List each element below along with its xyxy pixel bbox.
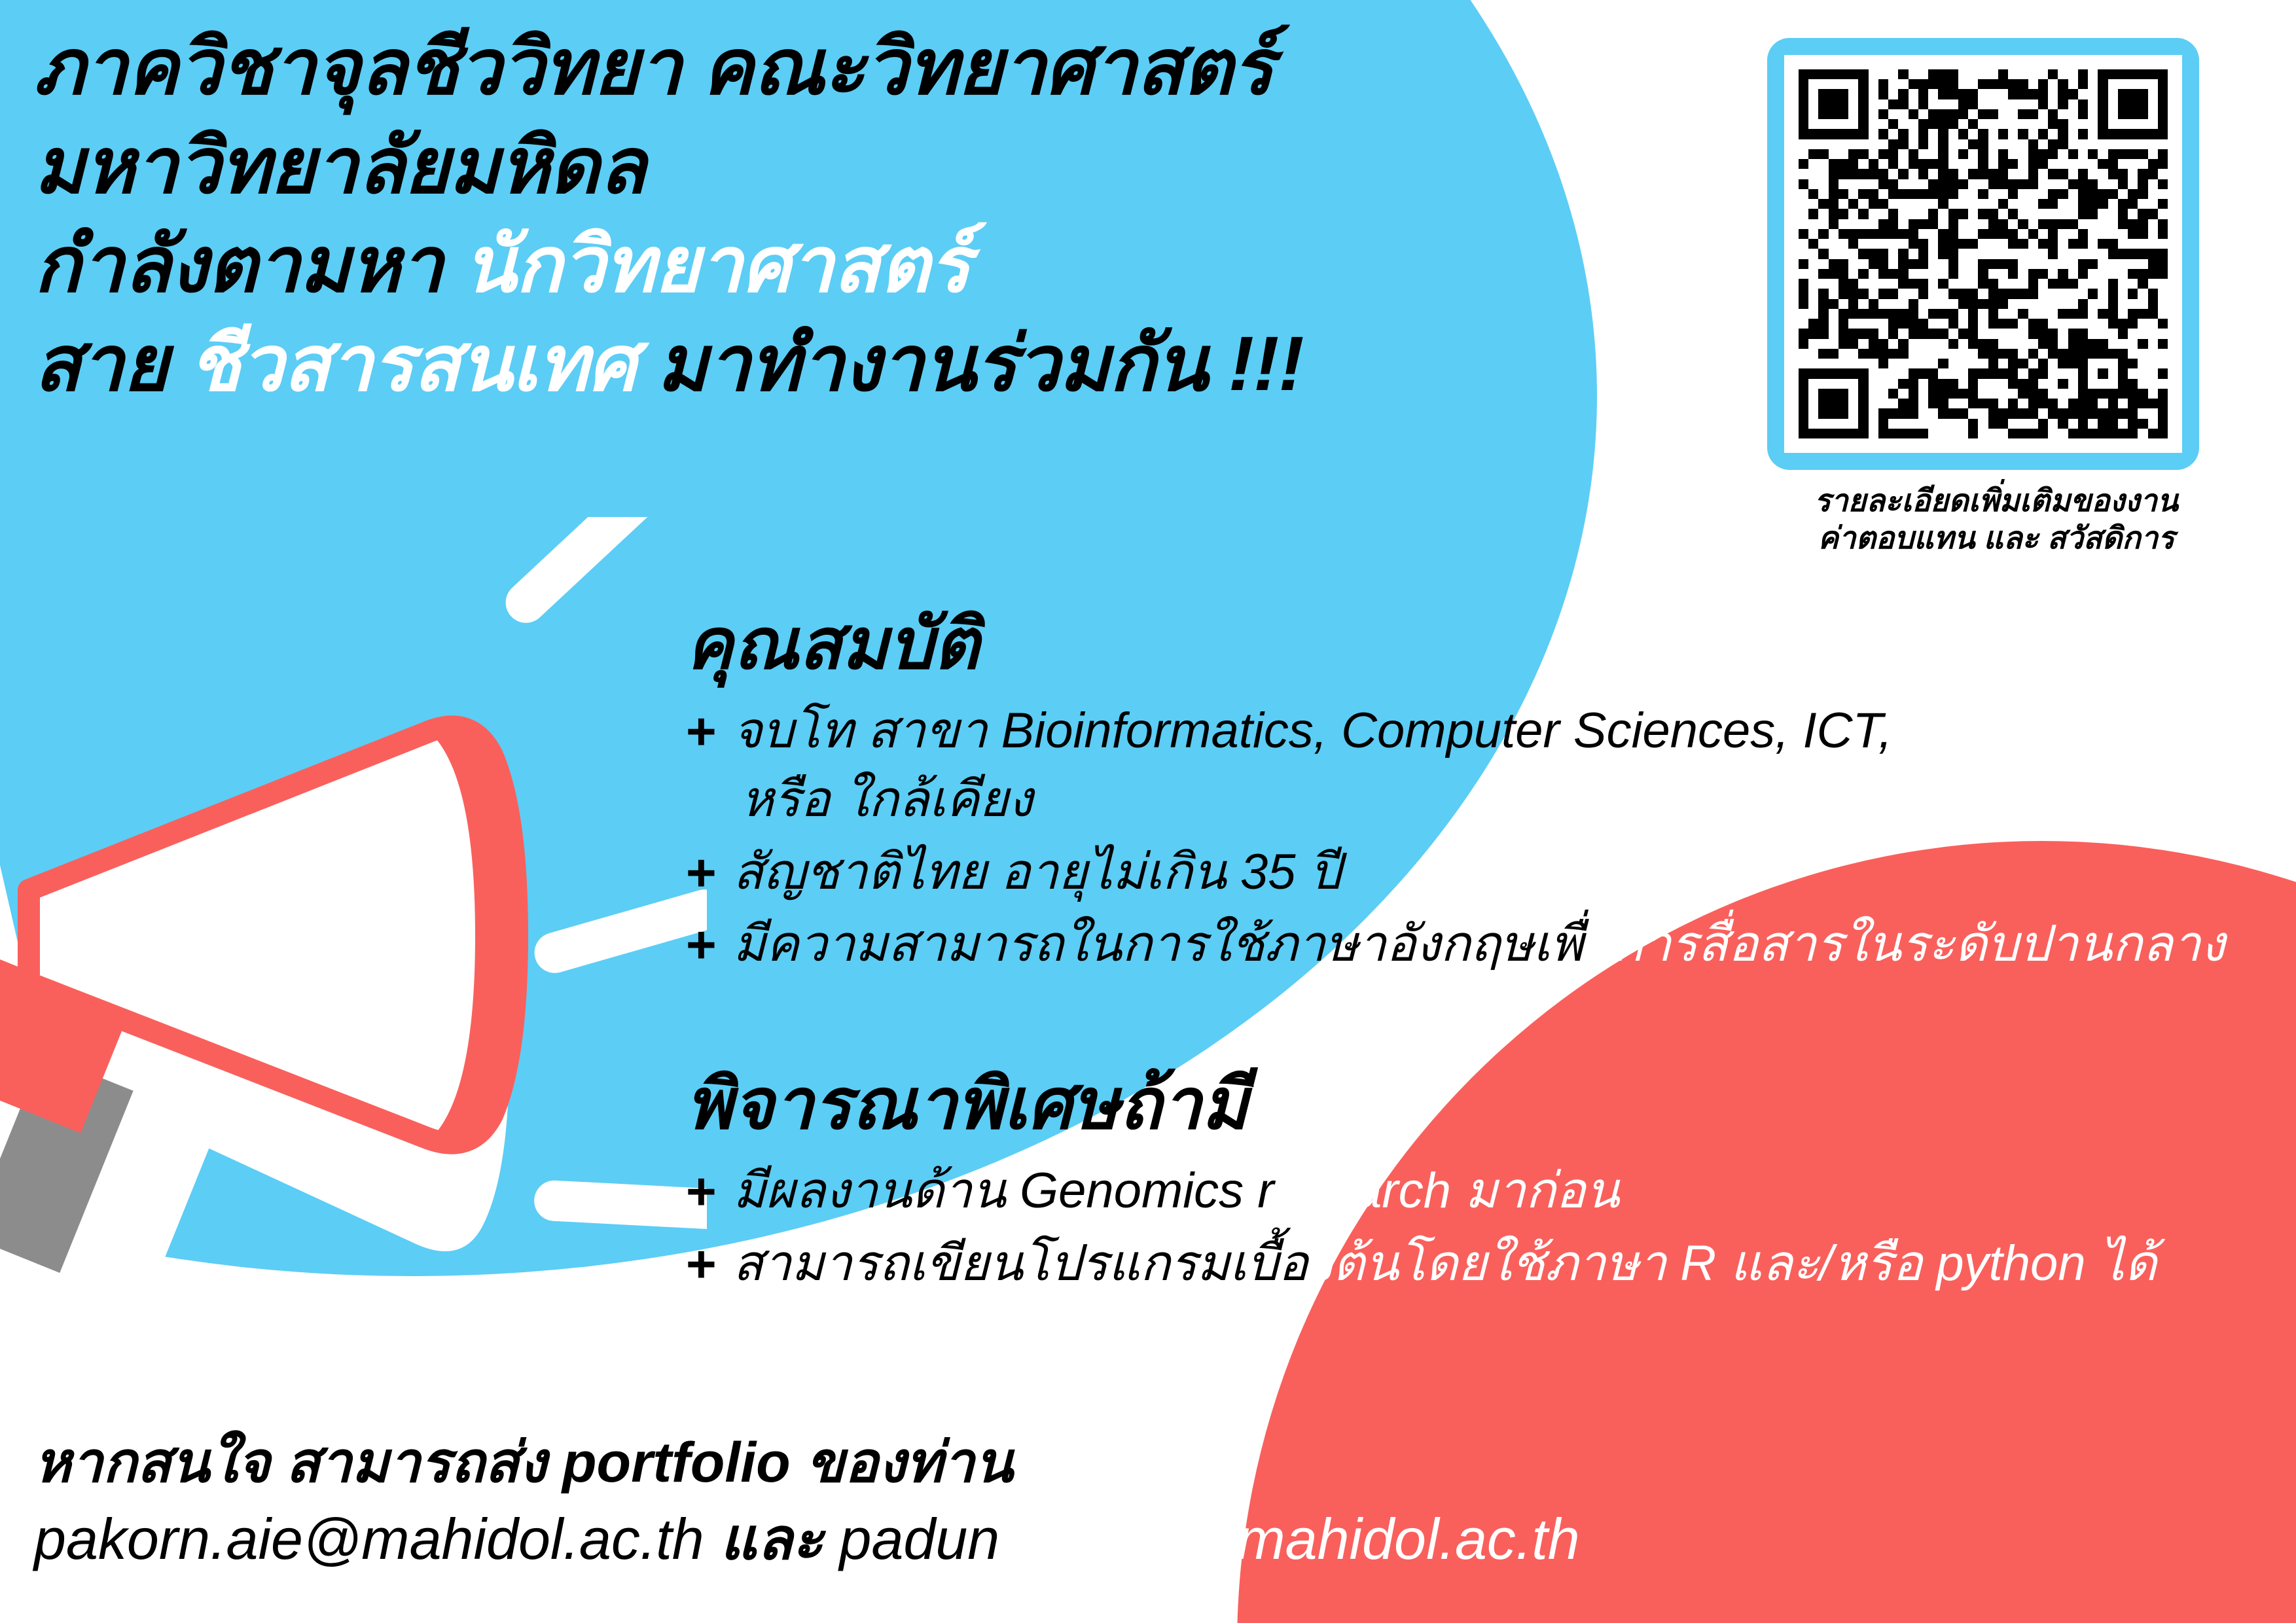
qr-caption: รายละเอียดเพิ่มเติมของงาน ค่าตอบแทน และ …: [1767, 482, 2225, 557]
footer-email-2-dark[interactable]: padun: [840, 1507, 1000, 1571]
qr-code-quiet-zone: [1784, 55, 2182, 453]
preferred-list: + มีผลงานด้าน Genomics research มาก่อน +…: [686, 1159, 2296, 1296]
megaphone-ray-1-icon: [497, 517, 664, 632]
qualifications-item-3-text-dark: มีความสามารถในการใช้ภาษาอังกฤษเพื่: [733, 916, 1583, 972]
qualifications-item-1-text: จบโท สาขา Bioinformatics, Computer Scien…: [733, 703, 1892, 758]
footer-cta-light: มาได้ที่:: [1029, 1431, 1218, 1494]
qualifications-item-2: + สัญชาติไทย อายุไม่เกิน 35 ปี: [686, 840, 2296, 905]
section-spacer: [686, 985, 2296, 1069]
preferred-heading: พิจารณาพิเศษถ้ามี: [686, 1069, 2296, 1139]
footer-cta: หากสนใจ สามารถส่ง portfolio ของท่าน มาได…: [34, 1430, 2259, 1496]
qualifications-item-1-continuation: หรือ ใกล้เคียง: [686, 768, 2296, 832]
qualifications-item-3: + มีความสามารถในการใช้ภาษาอังกฤษเพื่อการ…: [686, 912, 2296, 977]
footer-emails: pakorn.aie@mahidol.ac.th และ padungsri.v…: [34, 1505, 2259, 1573]
headline-line-3: กำลังตามหา นักวิทยาศาสตร์: [34, 216, 1749, 315]
qr-block: รายละเอียดเพิ่มเติมของงาน ค่าตอบแทน และ …: [1767, 38, 2225, 557]
bullet-plus-icon: +: [686, 911, 717, 979]
preferred-item-1: + มีผลงานด้าน Genomics research มาก่อน: [686, 1159, 2296, 1224]
preferred-item-2: + สามารถเขียนโปรแกรมเบื้องต้นโดยใช้ภาษา …: [686, 1232, 2296, 1296]
headline-line-3-dark: กำลังตามหา: [34, 222, 463, 308]
preferred-item-2-text-light: งต้นโดยใช้ภาษา R และ/หรือ python ได้: [1308, 1236, 2157, 1291]
qualifications-item-1-continuation-text: หรือ ใกล้เคียง: [741, 772, 1033, 827]
poster-canvas: ภาควิชาจุลชีววิทยา คณะวิทยาศาสตร์ มหาวิท…: [0, 0, 2296, 1623]
qualifications-list: + จบโท สาขา Bioinformatics, Computer Sci…: [686, 699, 2296, 977]
footer-conjunction: และ: [704, 1507, 840, 1571]
qr-caption-line-1: รายละเอียดเพิ่มเติมของงาน: [1767, 482, 2225, 519]
qualifications-item-3-text-light: อการสื่อสารในระดับปานกลาง: [1583, 916, 2225, 972]
headline-line-1: ภาควิชาจุลชีววิทยา คณะวิทยาศาสตร์: [34, 18, 1749, 117]
preferred-item-1-text-light: esearch มาก่อน: [1274, 1163, 1620, 1219]
headline-line-4-highlight: ชีวสารสนเทศ: [188, 321, 636, 407]
qualifications-item-1: + จบโท สาขา Bioinformatics, Computer Sci…: [686, 699, 2296, 764]
qr-code-frame[interactable]: [1767, 38, 2199, 470]
footer-email-1[interactable]: pakorn.aie@mahidol.ac.th: [34, 1507, 704, 1571]
bullet-plus-icon: +: [686, 698, 717, 766]
poster-headline: ภาควิชาจุลชีววิทยา คณะวิทยาศาสตร์ มหาวิท…: [34, 18, 1749, 414]
headline-line-4-dark-a: สาย: [34, 321, 188, 407]
headline-line-4: สาย ชีวสารสนเทศ มาทำงานร่วมกัน !!!: [34, 315, 1749, 414]
headline-line-3-highlight: นักวิทยาศาสตร์: [463, 222, 970, 308]
preferred-item-1-text-dark: มีผลงานด้าน Genomics r: [733, 1163, 1274, 1219]
qr-caption-line-2: ค่าตอบแทน และ สวัสดิการ: [1767, 519, 2225, 556]
footer-contact: หากสนใจ สามารถส่ง portfolio ของท่าน มาได…: [34, 1430, 2259, 1573]
headline-line-4-dark-b: มาทำงานร่วมกัน !!!: [636, 321, 1304, 407]
preferred-item-2-text-dark: สามารถเขียนโปรแกรมเบื้อ: [733, 1236, 1308, 1291]
qualifications-item-2-text: สัญชาติไทย อายุไม่เกิน 35 ปี: [733, 844, 1341, 900]
body-column: คุณสมบัติ + จบโท สาขา Bioinformatics, Co…: [686, 609, 2296, 1304]
bullet-plus-icon: +: [686, 1158, 717, 1226]
megaphone-ray-2-icon: [529, 885, 707, 978]
headline-line-2: มหาวิทยาลัยมหิดล: [34, 117, 1749, 216]
qualifications-heading: คุณสมบัติ: [686, 609, 2296, 679]
megaphone-ray-3-icon: [533, 1179, 707, 1230]
megaphone-illustration: [0, 517, 707, 1289]
bullet-plus-icon: +: [686, 839, 717, 907]
footer-cta-dark: หากสนใจ สามารถส่ง portfolio ของท่าน: [34, 1431, 1029, 1494]
bullet-plus-icon: +: [686, 1230, 717, 1298]
footer-email-2-light[interactable]: gsri.vic@mahidol.ac.th: [999, 1507, 1580, 1571]
qr-code-icon: [1799, 69, 2168, 438]
